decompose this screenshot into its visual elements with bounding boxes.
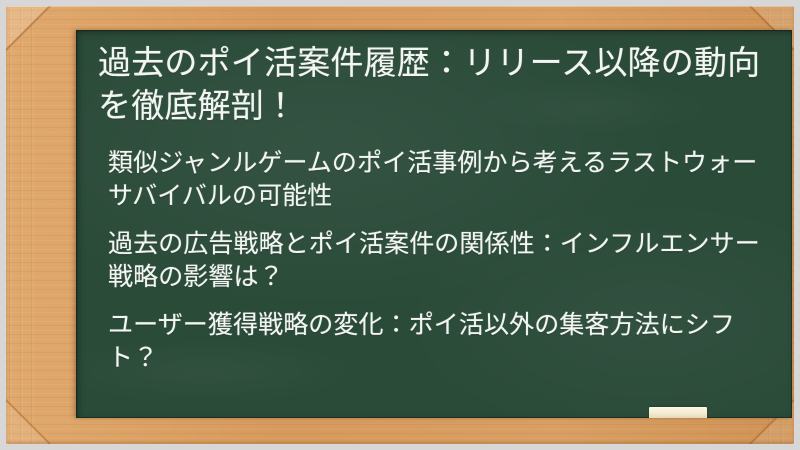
list-item: ユーザー獲得戦略の変化：ポイ活以外の集客方法にシフト？ [108, 308, 768, 375]
list-item: 過去の広告戦略とポイ活案件の関係性：インフルエンサー戦略の影響は？ [108, 227, 768, 294]
chalk-stick-icon [649, 407, 707, 418]
chalkboard-graphic: 過去のポイ活案件履歴：リリース以降の動向を徹底解剖！ 類似ジャンルゲームのポイ活… [0, 0, 800, 450]
chalkboard-surface: 過去のポイ活案件履歴：リリース以降の動向を徹底解剖！ 類似ジャンルゲームのポイ活… [76, 30, 792, 418]
frame-corner-bottom-left [6, 399, 51, 444]
page-title: 過去のポイ活案件履歴：リリース以降の動向を徹底解剖！ [98, 42, 770, 128]
wooden-frame: 過去のポイ活案件履歴：リリース以降の動向を徹底解剖！ 類似ジャンルゲームのポイ活… [6, 6, 794, 444]
frame-corner-top-left [6, 6, 51, 51]
list-item: 類似ジャンルゲームのポイ活事例から考えるラストウォーサバイバルの可能性 [108, 146, 768, 213]
chalkboard-content: 過去のポイ活案件履歴：リリース以降の動向を徹底解剖！ 類似ジャンルゲームのポイ活… [76, 30, 792, 375]
topic-list: 類似ジャンルゲームのポイ活事例から考えるラストウォーサバイバルの可能性 過去の広… [98, 146, 774, 375]
wood-grain-left [6, 6, 36, 444]
